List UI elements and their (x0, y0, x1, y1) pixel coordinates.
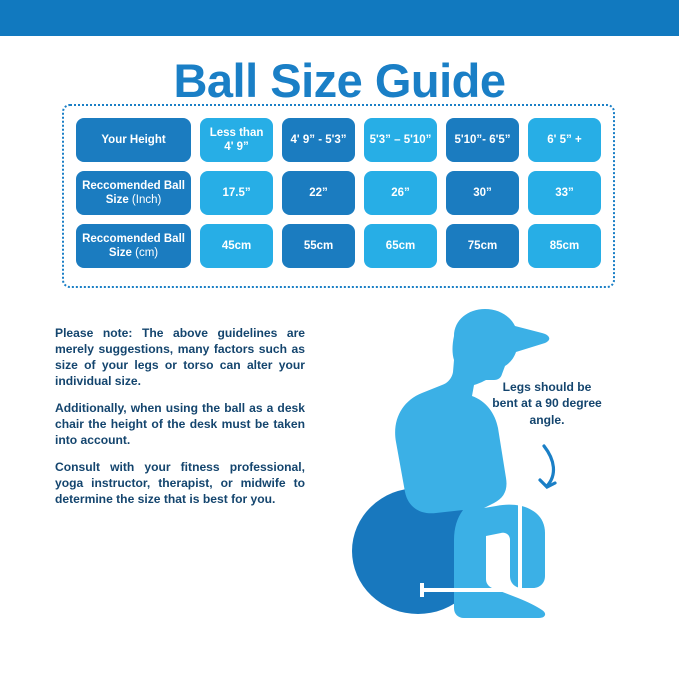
inch-cell-3: 26” (364, 171, 437, 215)
page-title: Ball Size Guide (0, 57, 679, 104)
table-row: Your Height Less than 4' 9” 4' 9” - 5'3”… (76, 118, 601, 162)
cm-cell-5: 85cm (528, 224, 601, 268)
notes-block: Please note: The above guidelines are me… (55, 326, 305, 508)
ball-size-guide-page: Ball Size Guide Your Height Less than 4'… (0, 0, 679, 679)
row-header-label: Your Height (101, 133, 165, 147)
row-header-your-height: Your Height (76, 118, 191, 162)
height-cell-3: 5'3” – 5'10” (364, 118, 437, 162)
row-header-label: Reccomended Ball Size (82, 233, 185, 259)
table-row: Reccomended Ball Size (Inch) 17.5” 22” 2… (76, 171, 601, 215)
row-header-unit: (cm) (135, 247, 158, 259)
row-header-ball-size-cm: Reccomended Ball Size (cm) (76, 224, 191, 268)
size-table: Your Height Less than 4' 9” 4' 9” - 5'3”… (76, 118, 601, 268)
cm-cell-3: 65cm (364, 224, 437, 268)
inch-cell-5: 33” (528, 171, 601, 215)
row-header-unit: (Inch) (132, 194, 161, 206)
inch-cell-2: 22” (282, 171, 355, 215)
row-header-ball-size-inch: Reccomended Ball Size (Inch) (76, 171, 191, 215)
inch-cell-4: 30” (446, 171, 519, 215)
height-cell-5: 6' 5” + (528, 118, 601, 162)
height-cell-1: Less than 4' 9” (200, 118, 273, 162)
cm-cell-1: 45cm (200, 224, 273, 268)
table-row: Reccomended Ball Size (cm) 45cm 55cm 65c… (76, 224, 601, 268)
note-paragraph-1: Please note: The above guidelines are me… (55, 326, 305, 390)
height-cell-2: 4' 9” - 5'3” (282, 118, 355, 162)
top-color-bar (0, 0, 679, 36)
note-paragraph-2: Additionally, when using the ball as a d… (55, 401, 305, 449)
cm-cell-2: 55cm (282, 224, 355, 268)
curved-arrow-icon (540, 446, 555, 487)
height-cell-4: 5'10”- 6'5” (446, 118, 519, 162)
seated-person-on-ball-illustration (336, 300, 616, 625)
note-paragraph-3: Consult with your fitness professional, … (55, 460, 305, 508)
cm-cell-4: 75cm (446, 224, 519, 268)
inch-cell-1: 17.5” (200, 171, 273, 215)
